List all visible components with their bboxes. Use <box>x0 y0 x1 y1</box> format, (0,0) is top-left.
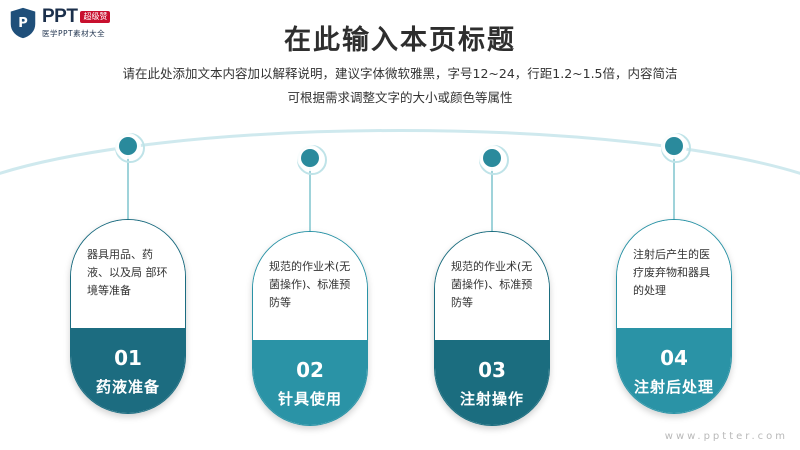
node-dot-2 <box>301 149 319 167</box>
step-label-4: 注射后处理 <box>634 376 714 397</box>
subtitle-line-1: 请在此处添加文本内容加以解释说明，建议字体微软雅黑，字号12~24，行距1.2~… <box>0 62 800 86</box>
step-footer-2: 02 针具使用 <box>253 340 367 426</box>
step-number-3: 03 <box>478 358 506 382</box>
step-label-3: 注射操作 <box>460 388 524 409</box>
node-dot-3 <box>483 149 501 167</box>
step-label-2: 针具使用 <box>278 388 342 409</box>
step-number-4: 04 <box>660 346 688 370</box>
step-footer-4: 04 注射后处理 <box>617 328 731 414</box>
watermark: www.pptter.com <box>665 431 788 442</box>
step-card-3[interactable]: 规范的作业术(无菌操作)、标准预防等 03 注射操作 <box>434 231 550 426</box>
node-dot-4 <box>665 137 683 155</box>
page-subtitle: 请在此处添加文本内容加以解释说明，建议字体微软雅黑，字号12~24，行距1.2~… <box>0 62 800 110</box>
step-description-1: 器具用品、药液、以及局 部环境等准备 <box>71 220 185 328</box>
node-dot-1 <box>119 137 137 155</box>
step-description-4: 注射后产生的医疗废弃物和器具的处理 <box>617 220 731 328</box>
step-card-1[interactable]: 器具用品、药液、以及局 部环境等准备 01 药液准备 <box>70 219 186 414</box>
page-title: 在此输入本页标题 <box>0 18 800 57</box>
step-footer-3: 03 注射操作 <box>435 340 549 426</box>
step-footer-1: 01 药液准备 <box>71 328 185 414</box>
step-number-1: 01 <box>114 346 142 370</box>
step-card-2[interactable]: 规范的作业术(无菌操作)、标准预防等 02 针具使用 <box>252 231 368 426</box>
step-card-4[interactable]: 注射后产生的医疗废弃物和器具的处理 04 注射后处理 <box>616 219 732 414</box>
step-description-2: 规范的作业术(无菌操作)、标准预防等 <box>253 232 367 340</box>
step-number-2: 02 <box>296 358 324 382</box>
step-label-1: 药液准备 <box>96 376 160 397</box>
subtitle-line-2: 可根据需求调整文字的大小或颜色等属性 <box>0 86 800 110</box>
step-description-3: 规范的作业术(无菌操作)、标准预防等 <box>435 232 549 340</box>
